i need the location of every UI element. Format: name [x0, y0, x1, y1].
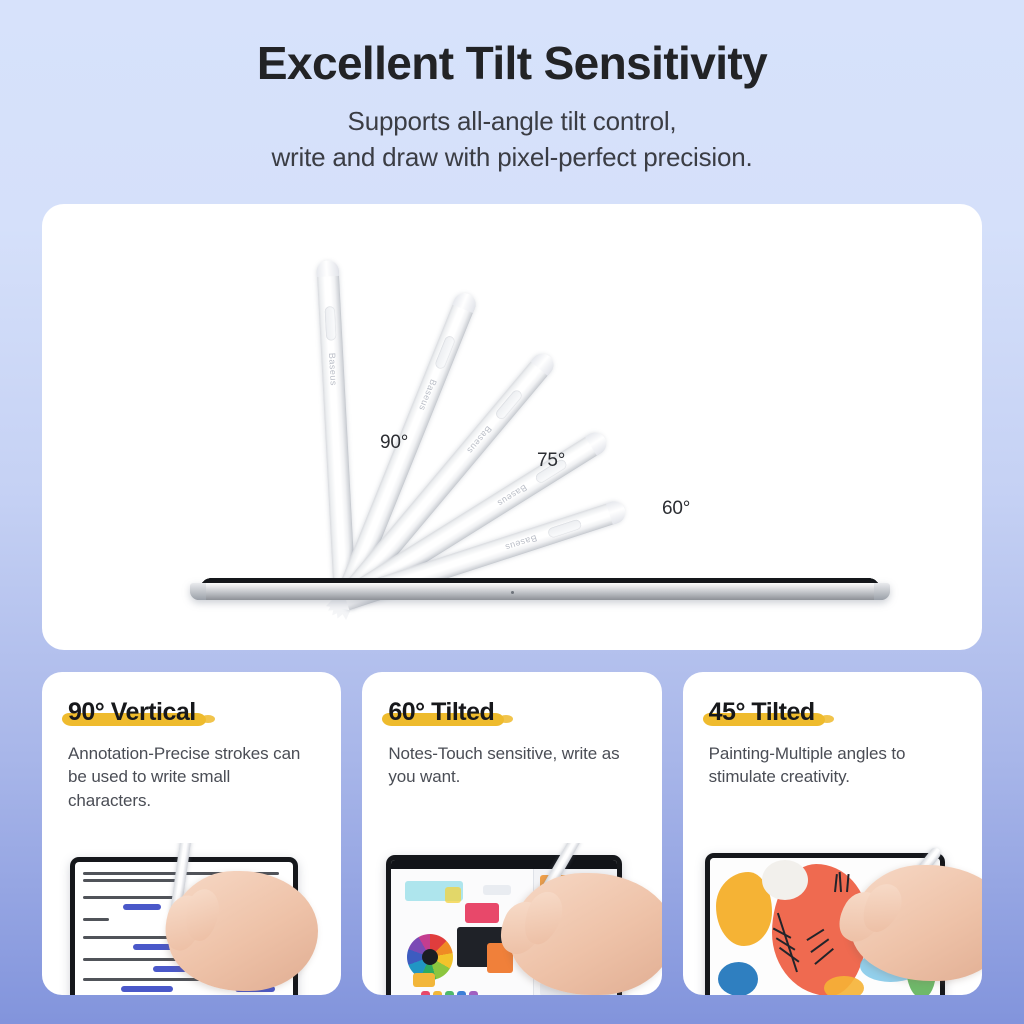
header: Excellent Tilt Sensitivity Supports all-… — [0, 0, 1024, 175]
subtitle-line-1: Supports all-angle tilt control, — [0, 90, 1024, 139]
card-title-row: 90° Vertical — [68, 698, 196, 727]
feature-card-90-vertical: 90° Vertical Annotation-Precise strokes … — [42, 672, 341, 995]
stylus-cap — [531, 349, 558, 375]
feature-card-list: 90° Vertical Annotation-Precise strokes … — [42, 672, 982, 995]
tablet-illustration — [42, 534, 982, 644]
stylus-brand-label: Baseus — [327, 347, 339, 391]
subtitle-line-2: write and draw with pixel-perfect precis… — [0, 138, 1024, 175]
card-description: Painting-Multiple angles to stimulate cr… — [709, 742, 956, 789]
card-title: 60° Tilted — [388, 698, 494, 727]
stylus-fan-illustration: BaseusBaseusBaseusBaseusBaseus 90°75°60°… — [42, 204, 982, 650]
angle-label-75deg: 75° — [537, 450, 565, 472]
card-photo-color-theory — [362, 843, 661, 995]
angle-label-60deg: 60° — [662, 498, 690, 520]
stylus-button — [325, 306, 337, 340]
tablet-indicator-dot — [511, 591, 514, 594]
stylus-brand-label: Baseus — [415, 373, 441, 418]
card-description: Annotation-Precise strokes can be used t… — [68, 742, 315, 812]
page-title: Excellent Tilt Sensitivity — [0, 0, 1024, 90]
stylus-brand-label: Baseus — [491, 480, 534, 512]
stylus-brand-label: Baseus — [461, 420, 497, 460]
card-title: 45° Tilted — [709, 698, 815, 727]
card-title: 90° Vertical — [68, 698, 196, 727]
card-title-row: 45° Tilted — [709, 698, 815, 727]
app-toolbar — [391, 860, 617, 869]
hero-panel: BaseusBaseusBaseusBaseusBaseus 90°75°60°… — [42, 204, 982, 650]
stylus-cap — [316, 260, 339, 277]
angle-label-90deg: 90° — [380, 432, 408, 454]
feature-card-60-tilted: 60° Tilted Notes-Touch sensitive, write … — [362, 672, 661, 995]
feature-card-45-tilted: 45° Tilted Painting-Multiple angles to s… — [683, 672, 982, 995]
card-photo-botanical-art — [683, 843, 982, 995]
stylus-cap — [585, 429, 610, 456]
promo-page: Excellent Tilt Sensitivity Supports all-… — [0, 0, 1024, 1024]
stylus-cap — [606, 499, 628, 525]
tablet-body — [190, 583, 890, 600]
card-photo-document-annotation — [42, 843, 341, 995]
card-title-row: 60° Tilted — [388, 698, 494, 727]
card-description: Notes-Touch sensitive, write as you want… — [388, 742, 635, 789]
stylus-cap — [452, 290, 478, 313]
stylus-button — [494, 388, 524, 420]
stylus-button — [434, 335, 456, 370]
